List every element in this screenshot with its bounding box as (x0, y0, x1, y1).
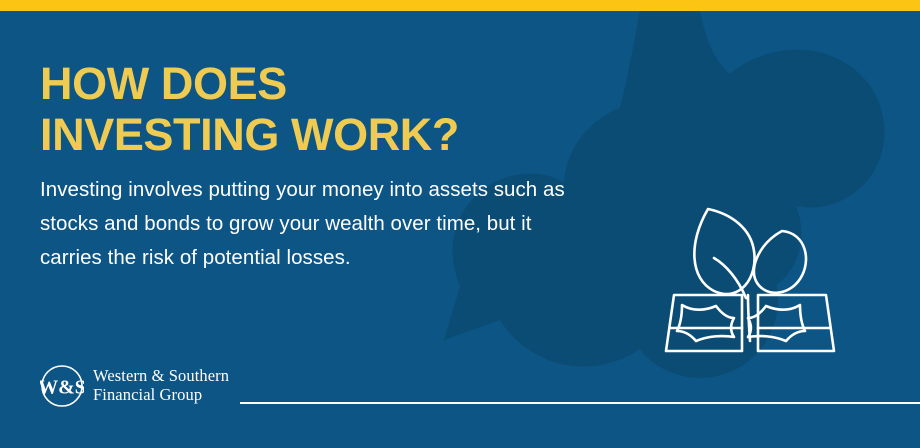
top-accent-bar (0, 0, 920, 11)
marketing-banner: HOW DOES INVESTING WORK? Investing invol… (0, 0, 920, 448)
body-text: Investing involves putting your money in… (40, 173, 570, 276)
brand-logo: W&S Western & Southern Financial Group (40, 364, 229, 408)
page-title: HOW DOES INVESTING WORK? (40, 59, 459, 161)
ws-monogram-icon: W&S (40, 364, 84, 408)
svg-text:W&S: W&S (40, 377, 84, 399)
brand-wordmark: Western & Southern Financial Group (93, 367, 229, 405)
divider-rule (240, 402, 920, 404)
plant-growing-from-money-icon (660, 195, 840, 360)
